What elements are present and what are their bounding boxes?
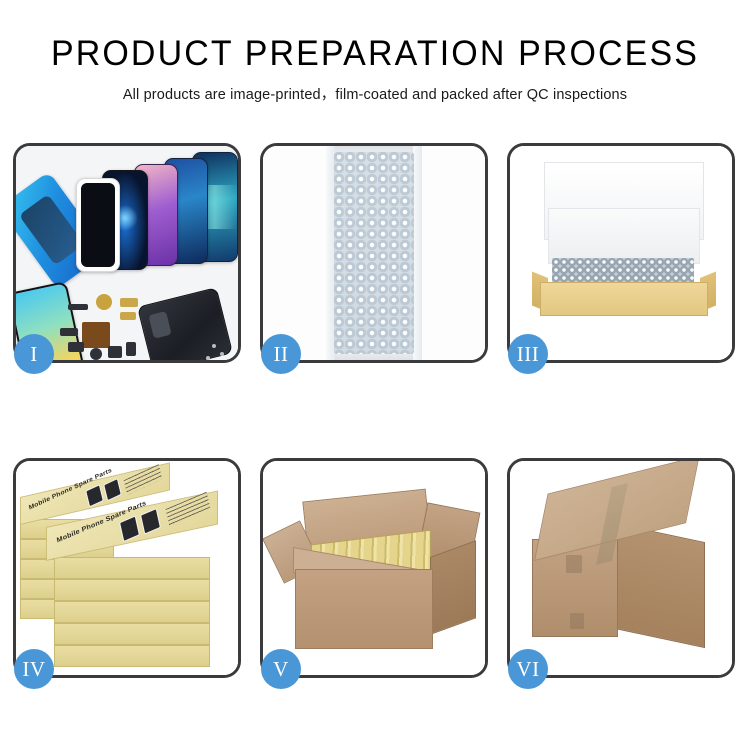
header: PRODUCT PREPARATION PROCESS All products… <box>0 34 750 104</box>
process-panel-4: Mobile Phone Spare Parts Mobile Phone Sp… <box>13 458 241 678</box>
panel-3-image <box>510 146 732 360</box>
process-panel-5: V <box>260 458 488 678</box>
infographic-page: PRODUCT PREPARATION PROCESS All products… <box>0 0 750 750</box>
screw-2-icon <box>220 352 224 356</box>
stacked-box-f3 <box>54 601 210 623</box>
carton-tab-lower <box>570 613 584 629</box>
bubble-wrap-sleeve-icon <box>326 146 422 360</box>
panel-5-image <box>263 461 485 675</box>
carton-tab-upper <box>566 555 582 573</box>
page-subtitle: All products are image-printed，film-coat… <box>0 83 750 104</box>
inner-box-front <box>540 282 708 316</box>
rear-lid-phone-1-icon <box>85 484 104 507</box>
vibrator-part-icon <box>108 346 122 358</box>
logic-board-icon <box>82 322 110 348</box>
process-panel-6: VI <box>507 458 735 678</box>
stacked-box-f5 <box>54 645 210 667</box>
connector-2-icon <box>68 342 84 352</box>
sleeve-edge-right <box>413 146 422 360</box>
bubble-pattern <box>334 152 414 354</box>
flex-cable-1-icon <box>120 298 138 307</box>
process-panel-grid: I II <box>13 143 737 678</box>
earpiece-part-icon <box>68 304 88 310</box>
step-badge-5: V <box>261 649 301 689</box>
process-panel-1: I <box>13 143 241 363</box>
step-badge-4: IV <box>14 649 54 689</box>
front-lid-phone-2-icon <box>140 508 161 535</box>
step-badge-1: I <box>14 334 54 374</box>
page-title: PRODUCT PREPARATION PROCESS <box>11 34 739 74</box>
camera-part-icon <box>90 348 102 360</box>
panel-4-image: Mobile Phone Spare Parts Mobile Phone Sp… <box>16 461 238 675</box>
phone-screen-2-icon <box>76 178 120 272</box>
stacked-box-f1 <box>54 557 210 579</box>
sealed-carton-side-right <box>615 523 705 648</box>
step-badge-2: II <box>261 334 301 374</box>
screw-3-icon <box>206 356 210 360</box>
panel-6-image <box>510 461 732 675</box>
front-lid-phone-1-icon <box>119 515 140 542</box>
carton-front <box>295 569 433 649</box>
step-badge-6: VI <box>508 649 548 689</box>
stacked-box-f4 <box>54 623 210 645</box>
step-badge-3: III <box>508 334 548 374</box>
process-panel-3: III <box>507 143 735 363</box>
process-panel-2: II <box>260 143 488 363</box>
foam-sheet-icon <box>548 208 700 264</box>
speaker-part-icon <box>96 294 112 310</box>
button-part-icon <box>126 342 136 356</box>
panel-2-image <box>263 146 485 360</box>
connector-1-icon <box>60 328 78 336</box>
flex-cable-2-icon <box>120 312 136 320</box>
screw-1-icon <box>212 344 216 348</box>
stacked-box-f2 <box>54 579 210 601</box>
panel-1-image <box>16 146 238 360</box>
rear-lid-phone-2-icon <box>103 478 122 501</box>
